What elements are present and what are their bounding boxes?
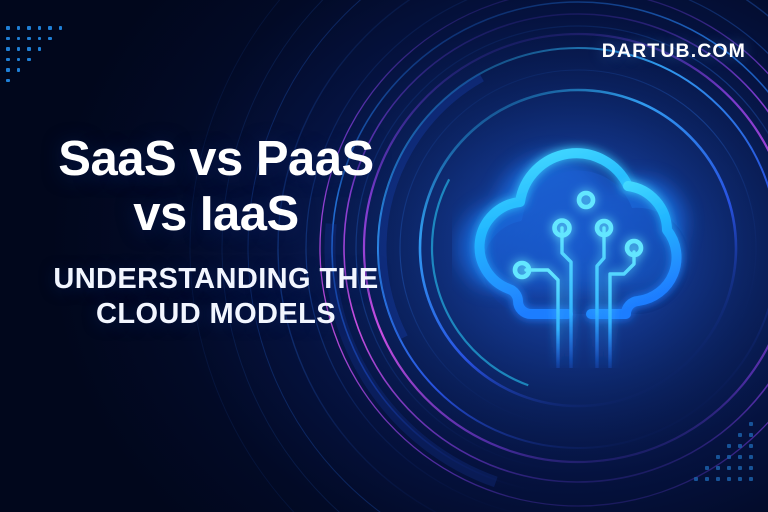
decorative-dot: [38, 47, 42, 51]
decorative-dot: [705, 477, 709, 481]
decorative-dot: [727, 477, 731, 481]
decorative-dot: [716, 477, 720, 481]
decorative-dot: [27, 58, 31, 62]
decorative-dot: [6, 47, 10, 51]
decorative-dot: [27, 47, 31, 51]
decorative-dot: [749, 455, 753, 459]
decorative-dot: [17, 47, 21, 51]
decorative-dot: [738, 433, 742, 437]
decorative-dot: [17, 68, 21, 72]
decorative-dot: [6, 58, 10, 62]
brand-watermark: DARTUB.COM: [602, 40, 746, 63]
decorative-dot: [749, 466, 753, 470]
decorative-dot: [749, 477, 753, 481]
decorative-dot: [59, 26, 63, 30]
decorative-dot: [738, 466, 742, 470]
decorative-dot: [738, 477, 742, 481]
decorative-dot: [694, 477, 698, 481]
page-subtitle: UNDERSTANDING THE CLOUD MODELS: [0, 262, 432, 333]
decorative-dot: [6, 26, 10, 30]
decorative-dot: [738, 455, 742, 459]
page-title: SaaS vs PaaS vs IaaS: [0, 132, 432, 242]
decorative-dot: [6, 79, 10, 83]
decorative-dot: [48, 26, 52, 30]
decorative-dot: [716, 455, 720, 459]
decorative-dot: [738, 444, 742, 448]
headline-block: SaaS vs PaaS vs IaaS UNDERSTANDING THE C…: [0, 132, 432, 333]
decorative-dot: [48, 37, 52, 41]
decorative-dot: [716, 466, 720, 470]
decorative-dot: [17, 58, 21, 62]
decorative-dot: [705, 466, 709, 470]
decorative-dot: [727, 455, 731, 459]
decorative-dot: [38, 26, 42, 30]
decorative-dot: [749, 422, 753, 426]
cloud-circuit-icon: [452, 128, 710, 368]
dot-grid-top-left: [6, 26, 69, 89]
decorative-dot: [17, 37, 21, 41]
dot-grid-bottom-right: [694, 422, 760, 488]
cloud-models-banner: DARTUB.COM SaaS vs PaaS vs IaaS UNDERSTA…: [0, 0, 768, 512]
decorative-dot: [749, 444, 753, 448]
decorative-dot: [727, 466, 731, 470]
title-line-1: SaaS vs PaaS: [0, 132, 432, 187]
subtitle-line-1: UNDERSTANDING THE: [0, 262, 432, 297]
decorative-dot: [749, 433, 753, 437]
decorative-dot: [6, 68, 10, 72]
subtitle-line-2: CLOUD MODELS: [0, 297, 432, 332]
decorative-dot: [27, 37, 31, 41]
decorative-dot: [38, 37, 42, 41]
decorative-dot: [17, 26, 21, 30]
decorative-dot: [727, 444, 731, 448]
decorative-dot: [27, 26, 31, 30]
title-line-2: vs IaaS: [0, 187, 432, 242]
decorative-dot: [6, 37, 10, 41]
